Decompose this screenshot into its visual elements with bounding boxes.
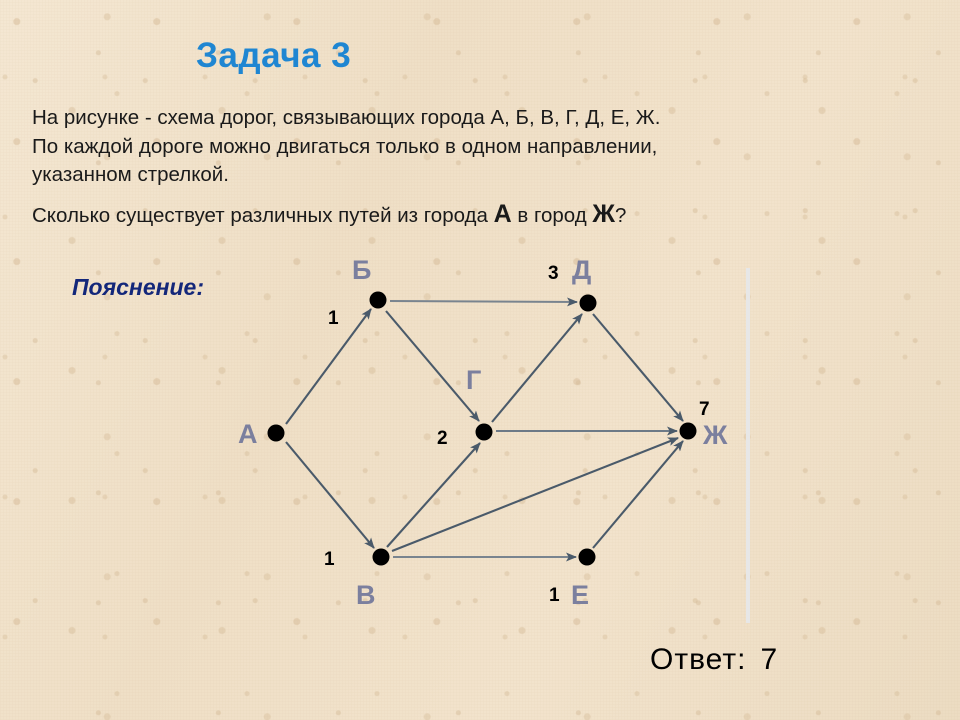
- path-count-d: 3: [548, 263, 559, 285]
- node-label-g: Г: [466, 365, 481, 396]
- answer-label: Ответ:: [650, 643, 746, 676]
- node-label-v: В: [356, 580, 376, 611]
- road-scheme-diagram: [0, 0, 960, 720]
- graph-nodes: [268, 292, 697, 566]
- path-count-g: 2: [437, 428, 448, 450]
- node-g: [476, 424, 493, 441]
- path-count-e: 1: [549, 585, 560, 607]
- edge-v-g: [387, 443, 480, 547]
- edge-b-d: [390, 301, 577, 302]
- node-b: [370, 292, 387, 309]
- edge-d-zh: [593, 314, 683, 421]
- node-label-a: А: [238, 419, 258, 450]
- node-label-e: Е: [571, 580, 589, 611]
- node-e: [579, 549, 596, 566]
- answer-row: Ответ:7: [650, 643, 778, 677]
- node-d: [580, 295, 597, 312]
- node-zh: [680, 423, 697, 440]
- node-label-b: Б: [352, 255, 371, 286]
- answer-value: 7: [760, 643, 778, 676]
- node-label-d: Д: [572, 255, 591, 286]
- path-count-b: 1: [328, 308, 339, 330]
- node-v: [373, 549, 390, 566]
- path-count-v: 1: [324, 549, 335, 571]
- edge-a-v: [286, 442, 374, 548]
- edge-g-d: [492, 314, 582, 422]
- node-a: [268, 425, 285, 442]
- edge-e-zh: [593, 441, 683, 548]
- node-label-zh: Ж: [703, 420, 727, 451]
- path-count-zh: 7: [699, 399, 710, 421]
